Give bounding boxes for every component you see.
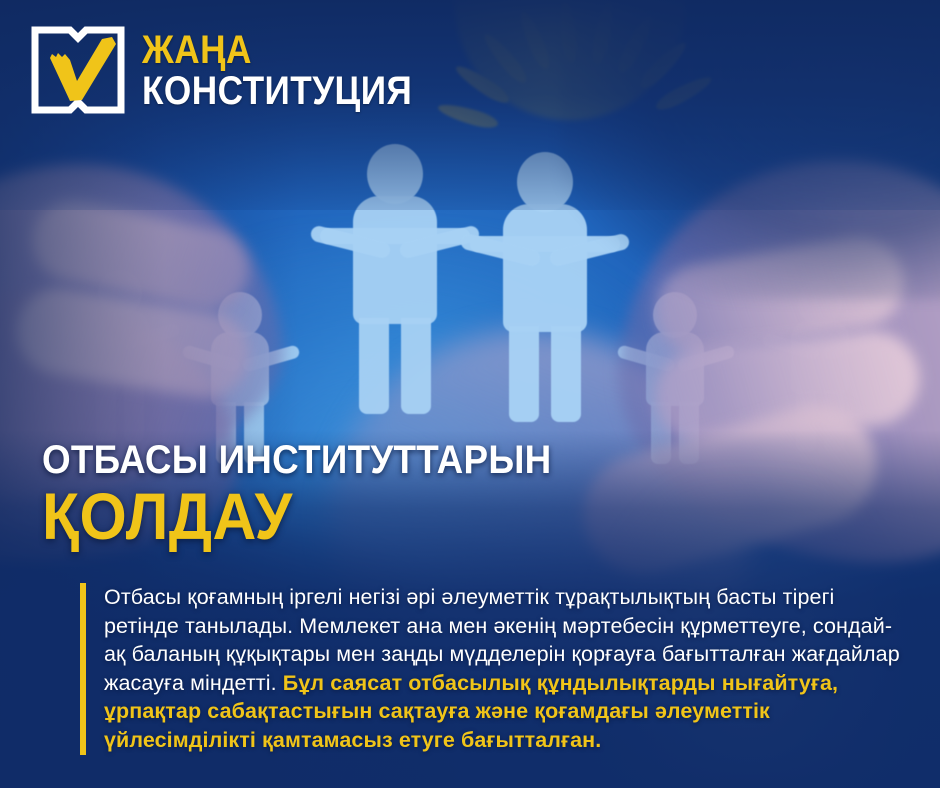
body-text-block: Отбасы қоғамның іргелі негізі әрі әлеуме… xyxy=(80,583,910,755)
logo-wordmark: ЖАҢА КОНСТИТУЦИЯ xyxy=(142,32,449,110)
paper-doll-part xyxy=(359,318,389,414)
logo-line-2: КОНСТИТУЦИЯ xyxy=(142,73,412,110)
paper-doll-part xyxy=(401,318,431,414)
paper-doll-part xyxy=(509,326,539,422)
headline-line-2: ҚОЛДАУ xyxy=(42,483,552,549)
paper-doll-part xyxy=(551,326,581,422)
headline-line-1: ОТБАСЫ ИНСТИТУТТАРЫН xyxy=(42,440,552,480)
body-paragraph: Отбасы қоғамның іргелі негізі әрі әлеуме… xyxy=(104,583,910,755)
logo-line-1: ЖАҢА xyxy=(142,32,412,69)
brand-logo[interactable]: ЖАҢА КОНСТИТУЦИЯ xyxy=(30,24,449,118)
open-book-checkmark-icon xyxy=(30,24,126,118)
poster-canvas: ЖАҢА КОНСТИТУЦИЯ ОТБАСЫ ИНСТИТУТТАРЫН ҚО… xyxy=(0,0,940,788)
paper-doll-part xyxy=(353,196,437,324)
headline-block: ОТБАСЫ ИНСТИТУТТАРЫН ҚОЛДАУ xyxy=(42,440,596,549)
